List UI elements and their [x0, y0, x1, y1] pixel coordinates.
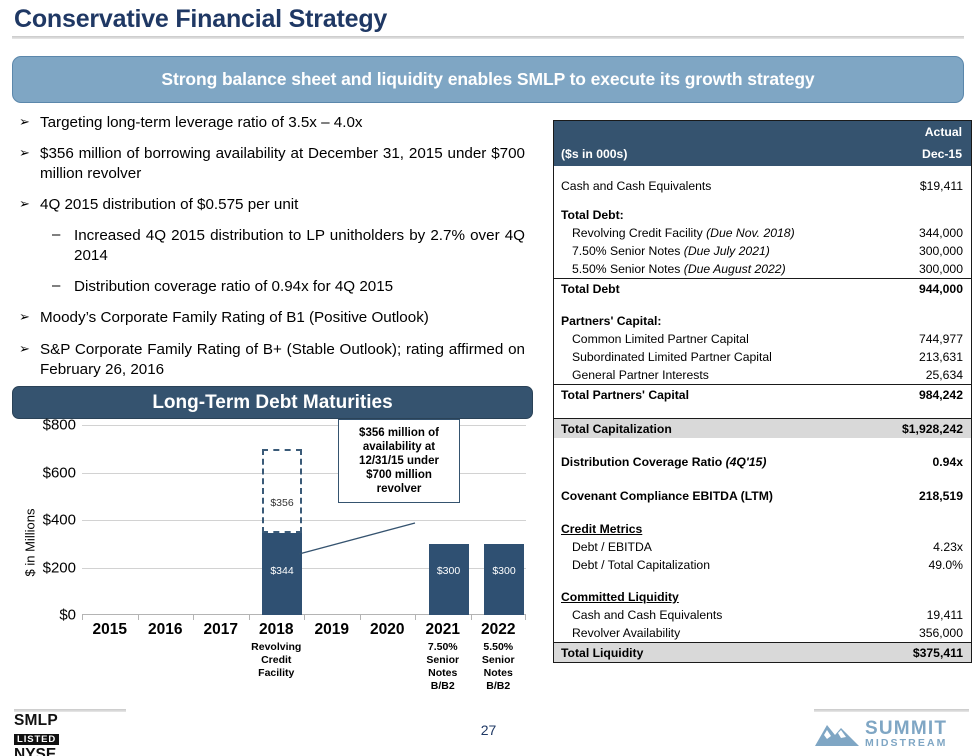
bullet-marker-icon: ➢: [19, 340, 30, 357]
x-tick-label: 2021: [415, 621, 471, 639]
table-row: Partners' Capital:: [554, 312, 971, 330]
y-tick: $600: [20, 464, 76, 481]
list-item-text: Targeting long-term leverage ratio of 3.…: [40, 114, 363, 131]
availability-callout: $356 million of availability at 12/31/15…: [338, 419, 460, 503]
row-value: 218,519: [919, 489, 963, 503]
x-tick: [471, 615, 472, 620]
debt-maturities-chart: Long-Term Debt Maturities $ in Millions …: [12, 386, 533, 705]
list-item: ➢ S&P Corporate Family Rating of B+ (Sta…: [0, 340, 545, 380]
bar-2018: $344: [262, 533, 302, 615]
x-tick: [82, 615, 83, 620]
row-label: Revolver Availability: [561, 626, 919, 640]
row-value: $375,411: [913, 646, 963, 660]
callout-line: $700 million: [343, 468, 455, 482]
list-item: ➢ $356 million of borrowing availability…: [0, 144, 545, 184]
row-value: $1,928,242: [902, 422, 963, 436]
headline-banner: Strong balance sheet and liquidity enabl…: [12, 56, 964, 103]
availability-dashed-box: $356: [262, 449, 302, 534]
table-row: 7.50% Senior Notes (Due July 2021) 300,0…: [554, 242, 971, 260]
callout-line: $356 million of: [343, 426, 455, 440]
list-item-text: Increased 4Q 2015 distribution to LP uni…: [74, 227, 525, 264]
mountain-peaks-icon: [813, 719, 861, 749]
table-spacer: [554, 404, 971, 418]
x-sublabel: 5.50%SeniorNotesB/B2: [471, 641, 527, 694]
chart-title-bar: Long-Term Debt Maturities: [12, 386, 533, 419]
list-item: ➢ Moody’s Corporate Family Rating of B1 …: [0, 308, 545, 328]
table-row: Cash and Cash Equivalents 19,411: [554, 606, 971, 624]
callout-line: revolver: [343, 482, 455, 496]
bar-2021: $300: [429, 544, 469, 615]
x-tick: [525, 615, 526, 620]
row-label: Cash and Cash Equivalents: [561, 179, 920, 193]
list-item-text: 4Q 2015 distribution of $0.575 per unit: [40, 196, 298, 213]
list-item: ➢ Targeting long-term leverage ratio of …: [0, 113, 545, 133]
row-label: Revolving Credit Facility (Due Nov. 2018…: [561, 226, 919, 240]
table-row: General Partner Interests 25,634: [554, 366, 971, 384]
bullet-marker-icon: ➢: [19, 113, 30, 130]
bar-value-label: $300: [492, 565, 515, 577]
table-row: Revolving Credit Facility (Due Nov. 2018…: [554, 224, 971, 242]
logo-wordmark: SUMMIT MIDSTREAM: [865, 719, 947, 750]
row-label: Total Debt:: [561, 208, 963, 222]
list-item: – Increased 4Q 2015 distribution to LP u…: [0, 226, 545, 266]
table-header: Actual Dec-15 ($s in 000s): [554, 121, 971, 166]
row-label: General Partner Interests: [561, 368, 926, 382]
x-tick: [415, 615, 416, 620]
row-label: Total Liquidity: [561, 646, 913, 660]
list-item-text: S&P Corporate Family Rating of B+ (Stabl…: [40, 341, 525, 378]
list-item-text: $356 million of borrowing availability a…: [40, 145, 525, 182]
row-note: (Due July 2021): [684, 244, 770, 258]
table-row: Common Limited Partner Capital 744,977: [554, 330, 971, 348]
table-row: Subordinated Limited Partner Capital 213…: [554, 348, 971, 366]
dash-marker-icon: –: [52, 276, 60, 296]
row-note: (Due Nov. 2018): [706, 226, 795, 240]
x-tick: [304, 615, 305, 620]
x-tick: [249, 615, 250, 620]
row-note: (4Q'15): [726, 455, 767, 469]
list-item-text: Distribution coverage ratio of 0.94x for…: [74, 278, 393, 295]
table-spacer: [554, 195, 971, 206]
row-label: Subordinated Limited Partner Capital: [561, 350, 919, 364]
availability-value-label: $356: [270, 497, 293, 509]
table-section-committed-liquidity: Committed Liquidity: [554, 588, 971, 606]
row-value: 744,977: [919, 332, 963, 346]
x-tick-label: 2019: [304, 621, 360, 639]
x-axis-labels: 2015 2016 2017 2018 RevolvingCreditFacil…: [82, 621, 526, 711]
row-label-text: 7.50% Senior Notes: [572, 244, 680, 258]
row-value: 0.94x: [933, 455, 964, 469]
callout-line: availability at: [343, 440, 455, 454]
y-tick: $0: [20, 607, 76, 624]
x-tick: [360, 615, 361, 620]
footer-divider-right: [814, 709, 969, 712]
row-label: 5.50% Senior Notes (Due August 2022): [561, 262, 919, 276]
row-value: 344,000: [919, 226, 963, 240]
row-label: Credit Metrics: [561, 522, 963, 536]
table-row: Revolver Availability 356,000: [554, 624, 971, 642]
x-sublabel: 7.50%SeniorNotesB/B2: [415, 641, 471, 694]
row-value: $19,411: [920, 179, 963, 193]
capitalization-table: Actual Dec-15 ($s in 000s) Cash and Cash…: [553, 120, 972, 663]
x-category-2022: 2022 5.50%SeniorNotesB/B2: [471, 621, 527, 694]
table-row-covenant-ebitda: Covenant Compliance EBITDA (LTM) 218,519: [554, 486, 971, 506]
row-value: 213,631: [919, 350, 963, 364]
row-label-text: Revolving Credit Facility: [572, 226, 703, 240]
table-row-total-partners-capital: Total Partners' Capital 984,242: [554, 384, 971, 404]
table-row-total-capitalization: Total Capitalization $1,928,242: [554, 418, 971, 438]
bullet-list: ➢ Targeting long-term leverage ratio of …: [0, 113, 545, 380]
table-col-header-actual: Actual: [925, 125, 962, 139]
chart-title: Long-Term Debt Maturities: [152, 392, 392, 414]
x-tick-label: 2020: [360, 621, 416, 639]
row-label-text: Distribution Coverage Ratio: [561, 455, 722, 469]
logo-primary-text: SUMMIT: [865, 719, 947, 738]
row-label: Common Limited Partner Capital: [561, 332, 919, 346]
row-label: Total Partners' Capital: [561, 388, 919, 402]
row-label: Total Capitalization: [561, 422, 902, 436]
table-row: Debt / Total Capitalization 49.0%: [554, 556, 971, 574]
table-row: 5.50% Senior Notes (Due August 2022) 300…: [554, 260, 971, 278]
x-sublabel: RevolvingCreditFacility: [249, 641, 305, 680]
table-spacer: [554, 166, 971, 177]
bullet-marker-icon: ➢: [19, 308, 30, 325]
table-spacer: [554, 574, 971, 588]
row-value: 356,000: [919, 626, 963, 640]
title-divider: [12, 36, 964, 39]
row-value: 25,634: [926, 368, 963, 382]
logo-secondary-text: MIDSTREAM: [865, 738, 947, 750]
row-label: Debt / EBITDA: [561, 540, 933, 554]
x-category-2015: 2015: [82, 621, 138, 639]
x-tick-label: 2015: [82, 621, 138, 639]
bar-value-label: $344: [270, 565, 293, 577]
row-value: 984,242: [919, 388, 963, 402]
y-tick: $200: [20, 559, 76, 576]
page-title: Conservative Financial Strategy: [14, 5, 387, 34]
x-tick: [138, 615, 139, 620]
table-spacer: [554, 438, 971, 452]
x-category-2021: 2021 7.50%SeniorNotesB/B2: [415, 621, 471, 694]
table-spacer: [554, 472, 971, 486]
bar-2022: $300: [484, 544, 524, 615]
summit-midstream-logo: SUMMIT MIDSTREAM: [813, 714, 969, 754]
x-tick-label: 2017: [193, 621, 249, 639]
row-label-text: 5.50% Senior Notes: [572, 262, 680, 276]
row-value: 300,000: [919, 244, 963, 258]
x-tick: [193, 615, 194, 620]
row-note: (Due August 2022): [684, 262, 786, 276]
chart-plot-area: $ in Millions $0 $200 $400 $600 $800: [12, 425, 533, 705]
row-value: 49.0%: [928, 558, 963, 572]
row-label: Distribution Coverage Ratio (4Q'15): [561, 455, 933, 469]
list-item-text: Moody’s Corporate Family Rating of B1 (P…: [40, 309, 429, 326]
x-category-2018: 2018 RevolvingCreditFacility: [249, 621, 305, 680]
x-tick-label: 2022: [471, 621, 527, 639]
callout-leader-line: [297, 521, 417, 557]
dash-marker-icon: –: [52, 225, 60, 245]
bullet-marker-icon: ➢: [19, 144, 30, 161]
chart-gridlines: $344 $356 $300 $300: [82, 425, 526, 615]
x-category-2016: 2016: [138, 621, 194, 639]
table-row: Total Debt:: [554, 206, 971, 224]
row-label: 7.50% Senior Notes (Due July 2021): [561, 244, 919, 258]
table-row: Cash and Cash Equivalents $19,411: [554, 177, 971, 195]
x-category-2019: 2019: [304, 621, 360, 639]
row-value: 300,000: [919, 262, 963, 276]
table-row-total-debt: Total Debt 944,000: [554, 278, 971, 298]
y-tick: $400: [20, 512, 76, 529]
table-col-header-date: Dec-15: [922, 147, 962, 161]
table-row-total-liquidity: Total Liquidity $375,411: [554, 642, 971, 662]
row-label: Cash and Cash Equivalents: [561, 608, 927, 622]
x-tick-label: 2018: [249, 621, 305, 639]
list-item: ➢ 4Q 2015 distribution of $0.575 per uni…: [0, 195, 545, 215]
row-value: 19,411: [927, 608, 963, 622]
bullet-list-section: ➢ Targeting long-term leverage ratio of …: [0, 113, 545, 391]
list-item: – Distribution coverage ratio of 0.94x f…: [0, 277, 545, 297]
slide: Conservative Financial Strategy Strong b…: [0, 0, 977, 756]
table-spacer: [554, 298, 971, 312]
y-axis-ticks: $0 $200 $400 $600 $800: [12, 425, 76, 615]
headline-banner-text: Strong balance sheet and liquidity enabl…: [161, 69, 814, 90]
y-tick: $800: [20, 417, 76, 434]
table-spacer: [554, 506, 971, 520]
x-category-2017: 2017: [193, 621, 249, 639]
row-label: Total Debt: [561, 282, 919, 296]
row-value: 4.23x: [933, 540, 963, 554]
table-row: Debt / EBITDA 4.23x: [554, 538, 971, 556]
table-row-distribution-coverage: Distribution Coverage Ratio (4Q'15) 0.94…: [554, 452, 971, 472]
table-section-credit-metrics: Credit Metrics: [554, 520, 971, 538]
bullet-marker-icon: ➢: [19, 195, 30, 212]
table-units-label: ($s in 000s): [561, 147, 627, 161]
row-label: Covenant Compliance EBITDA (LTM): [561, 489, 919, 503]
x-category-2020: 2020: [360, 621, 416, 639]
row-label: Debt / Total Capitalization: [561, 558, 928, 572]
x-tick-label: 2016: [138, 621, 194, 639]
row-value: 944,000: [919, 282, 963, 296]
row-label: Partners' Capital:: [561, 314, 963, 328]
bar-value-label: $300: [437, 565, 460, 577]
callout-line: 12/31/15 under: [343, 454, 455, 468]
row-label: Committed Liquidity: [561, 590, 963, 604]
nyse-exchange-name: NYSE: [14, 747, 134, 756]
